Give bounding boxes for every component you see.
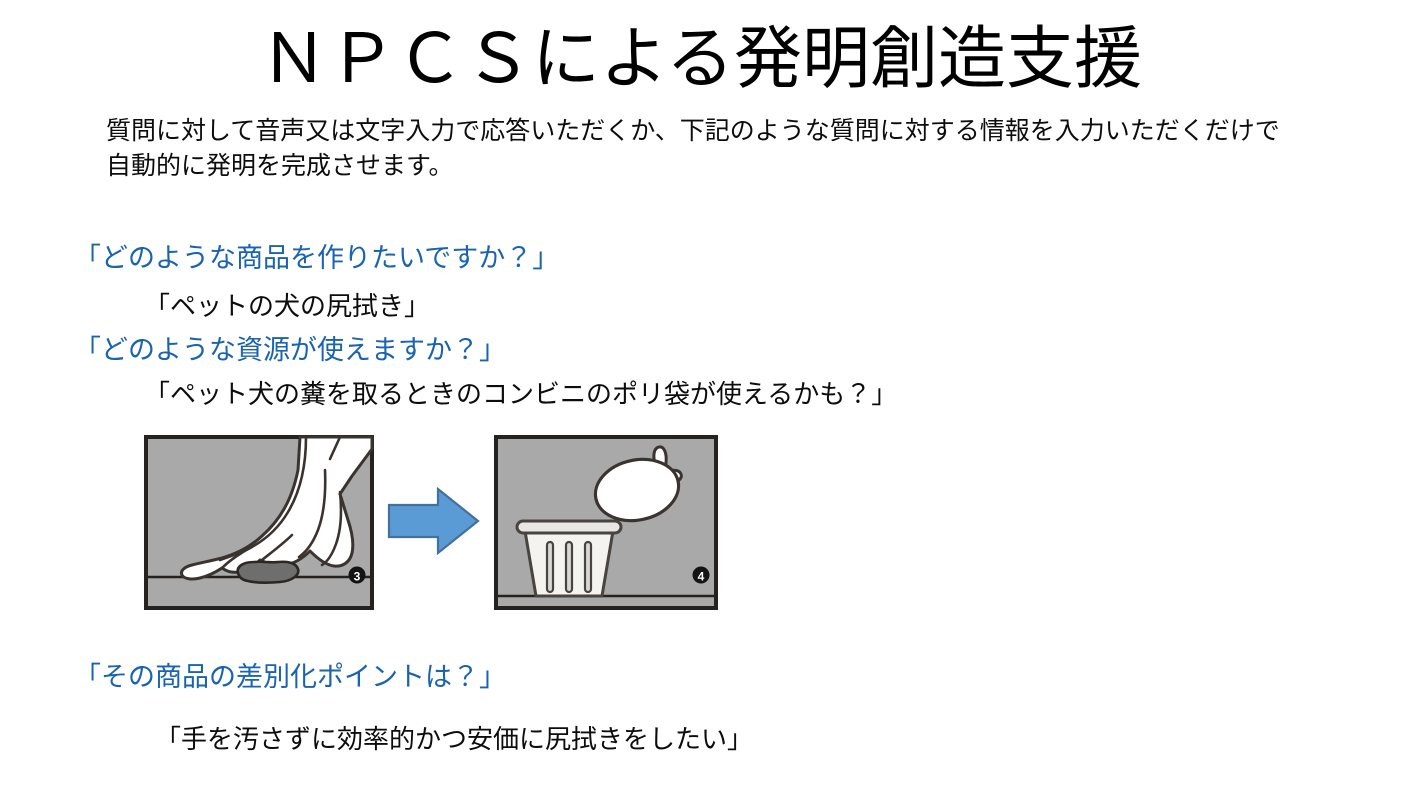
bag-knot-loop-2 (655, 470, 681, 485)
basket-slot-1 (547, 542, 553, 592)
subtitle-line-2: 自動的に発明を完成させます。 (106, 149, 1376, 184)
answer-1: 「ペットの犬の尻拭き」 (144, 289, 430, 323)
bag-body (590, 452, 685, 528)
basket-body (525, 531, 613, 596)
right-arrow-icon (389, 489, 478, 553)
subtitle-line-1: 質問に対して音声又は文字入力で応答いただくか、下記のような質問に対する情報を入力… (106, 114, 1376, 149)
bag-outline (181, 437, 372, 579)
answer-3: 「手を汚さずに効率的かつ安価に尻拭きをしたい」 (155, 722, 753, 756)
basket-rim (517, 521, 621, 533)
badge-number-3: 3 (354, 570, 361, 584)
question-1: 「どのような商品を作りたいですか？」 (74, 241, 559, 275)
answer-2: 「ペット犬の糞を取るときのコンビニのポリ袋が使えるかも？」 (144, 377, 897, 411)
panel-left: 3 (146, 437, 372, 608)
page-title: ＮＰＣＳによる発明創造支援 (0, 20, 1402, 98)
panel-left-frame (146, 437, 372, 608)
waste-basket-shape (517, 521, 621, 596)
panel-right-frame (496, 437, 716, 608)
panel-right: 4 (496, 437, 716, 608)
badge-circle-4 (693, 567, 710, 584)
hand-contour-1 (220, 437, 306, 560)
basket-slot-2 (566, 542, 572, 592)
hand-contour-3 (322, 492, 341, 565)
badge-number-4: 4 (698, 570, 705, 584)
tied-bag-shape (590, 447, 685, 528)
panel-left-badge: 3 (349, 567, 366, 584)
bagged-hand-shape (181, 437, 372, 579)
hand-contour-2 (299, 470, 325, 557)
bag-knot-loop-1 (654, 447, 666, 476)
basket-slot-3 (585, 542, 591, 592)
panel-right-badge: 4 (693, 567, 710, 584)
finger-split-2 (262, 535, 292, 560)
question-3: 「その商品の差別化ポイントは？」 (74, 660, 506, 694)
waste-blob (238, 562, 299, 583)
slide-canvas: ＮＰＣＳによる発明創造支援 質問に対して音声又は文字入力で応答いただくか、下記の… (0, 0, 1402, 789)
sleeve-edge (330, 437, 340, 459)
finger-split-1 (222, 547, 252, 568)
subtitle-paragraph: 質問に対して音声又は文字入力で応答いただくか、下記のような質問に対する情報を入力… (106, 114, 1376, 184)
question-2: 「どのような資源が使えますか？」 (74, 333, 506, 367)
badge-circle-3 (349, 567, 366, 584)
